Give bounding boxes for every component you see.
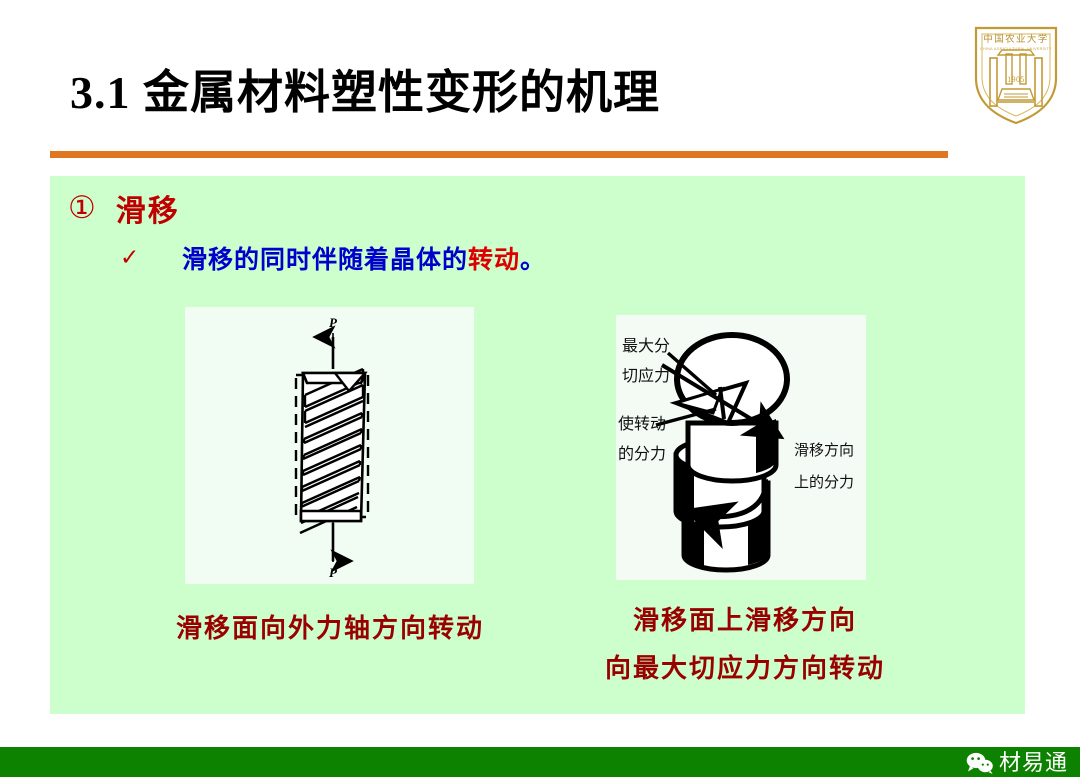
figure-left-label-top: P <box>329 315 338 330</box>
watermark: 材易通 <box>966 748 1068 777</box>
bullet-text-part-1: 滑移的同时伴随着晶体的 <box>182 247 468 274</box>
heading-marker: ① <box>68 193 96 224</box>
content-panel: ① 滑移 ✓ 滑移的同时伴随着晶体的转动。 P P <box>50 176 1025 714</box>
figure-right-label-3: 使转动 <box>618 414 666 433</box>
section-heading: ① 滑移 <box>68 186 180 230</box>
figure-left-label-bottom: P <box>329 565 338 580</box>
figure-right-label-2: 切应力 <box>622 366 670 385</box>
bullet-text-emphasis: 转动 <box>468 247 520 274</box>
logo-name-cn: 中国农业大学 <box>983 33 1048 45</box>
figure-right-label-6: 上的分力 <box>794 473 854 491</box>
university-logo: 中国农业大学 CHINA AGRICULTURAL UNIVERSITY 190… <box>968 14 1064 126</box>
figure-left-caption: 滑移面向外力轴方向转动 <box>160 608 500 645</box>
figure-slip-rotation-left: P P <box>185 307 474 584</box>
check-icon: ✓ <box>120 245 182 271</box>
page-title: 3.1 金属材料塑性变形的机理 <box>70 56 660 122</box>
bullet-text-part-2: 。 <box>520 247 546 274</box>
logo-name-en: CHINA AGRICULTURAL UNIVERSITY <box>980 47 1052 51</box>
logo-year: 1905 <box>1007 75 1025 84</box>
figure-right-caption-line-1: 滑移面上滑移方向 <box>605 600 885 637</box>
watermark-label: 材易通 <box>999 752 1068 774</box>
bullet-text: 滑移的同时伴随着晶体的转动。 <box>182 240 546 276</box>
figure-right-label-1: 最大分 <box>622 336 670 355</box>
figure-right-caption-line-2: 向最大切应力方向转动 <box>580 648 910 685</box>
heading-label: 滑移 <box>116 186 180 230</box>
bullet-item: ✓ 滑移的同时伴随着晶体的转动。 <box>120 240 546 276</box>
figure-right-label-4: 的分力 <box>618 444 666 463</box>
figure-right-label-5: 滑移方向 <box>794 441 854 459</box>
figure-resolved-shear-right: 最大分 切应力 使转动 的分力 滑移方向 上的分力 <box>616 315 866 580</box>
title-divider <box>50 151 948 158</box>
wechat-icon <box>966 752 994 774</box>
footer-bar <box>0 747 1080 777</box>
